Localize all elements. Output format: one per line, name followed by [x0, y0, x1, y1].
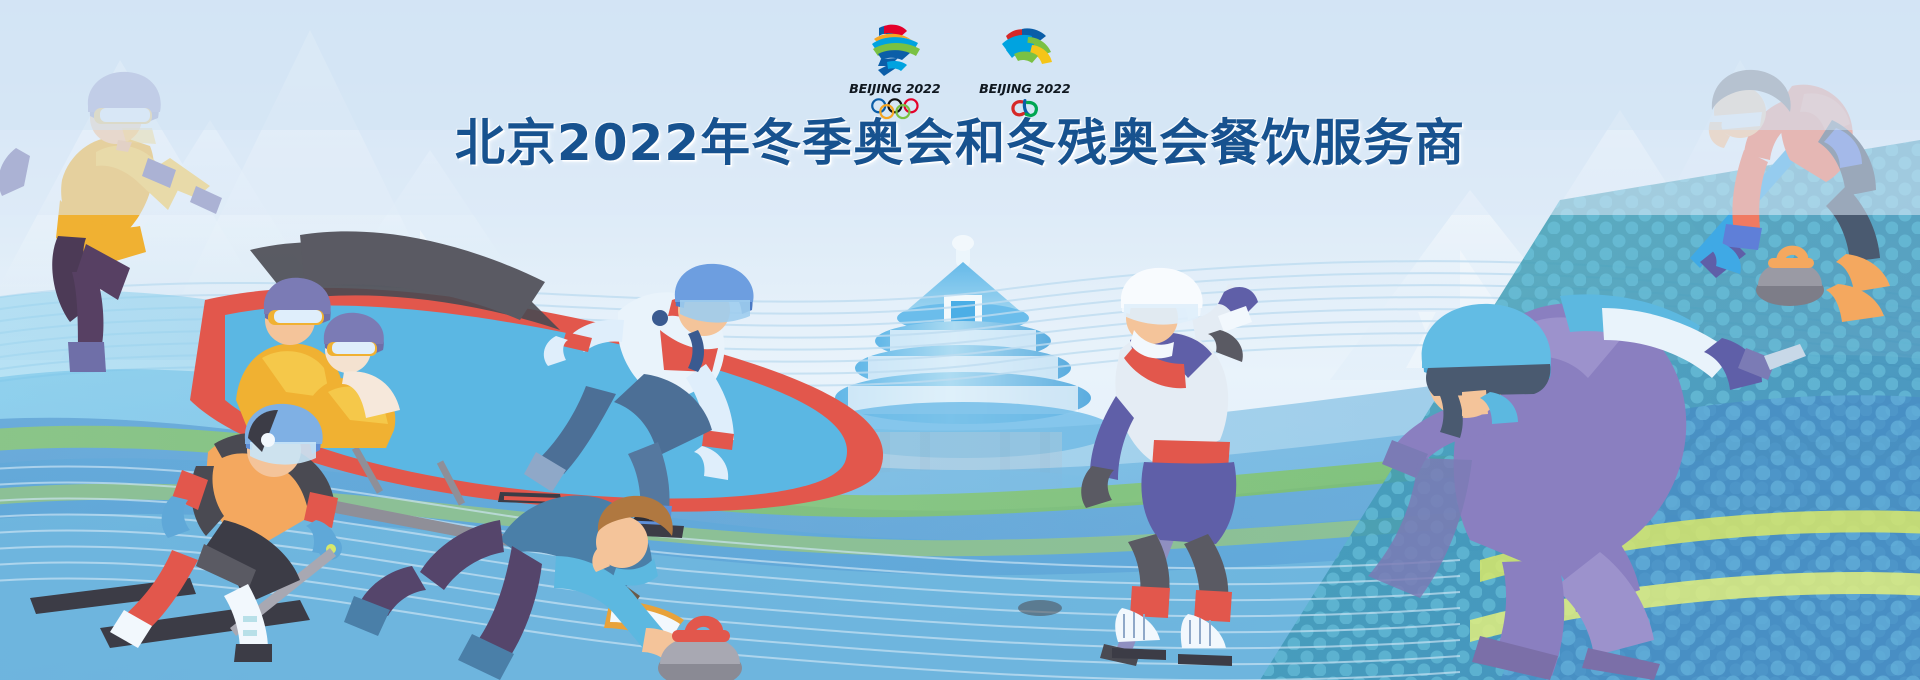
paralympic-logo[interactable]: BEIJING 2022	[977, 22, 1073, 120]
beijing-2022-paralympic-emblem-icon	[992, 22, 1058, 78]
olympic-wordmark: BEIJING 2022	[849, 81, 940, 96]
page-title: 北京2022年冬季奥会和冬残奥会餐饮服务商	[455, 118, 1465, 168]
page-title-wrap: 北京2022年冬季奥会和冬残奥会餐饮服务商	[0, 118, 1920, 168]
logo-row: BEIJING 2022	[847, 22, 1073, 120]
beijing-2022-banner: BEIJING 2022	[0, 0, 1920, 680]
paralympic-wordmark: BEIJING 2022	[979, 81, 1070, 96]
olympic-logo[interactable]: BEIJING 2022	[847, 22, 943, 120]
beijing-2022-olympic-emblem-icon	[862, 22, 928, 78]
